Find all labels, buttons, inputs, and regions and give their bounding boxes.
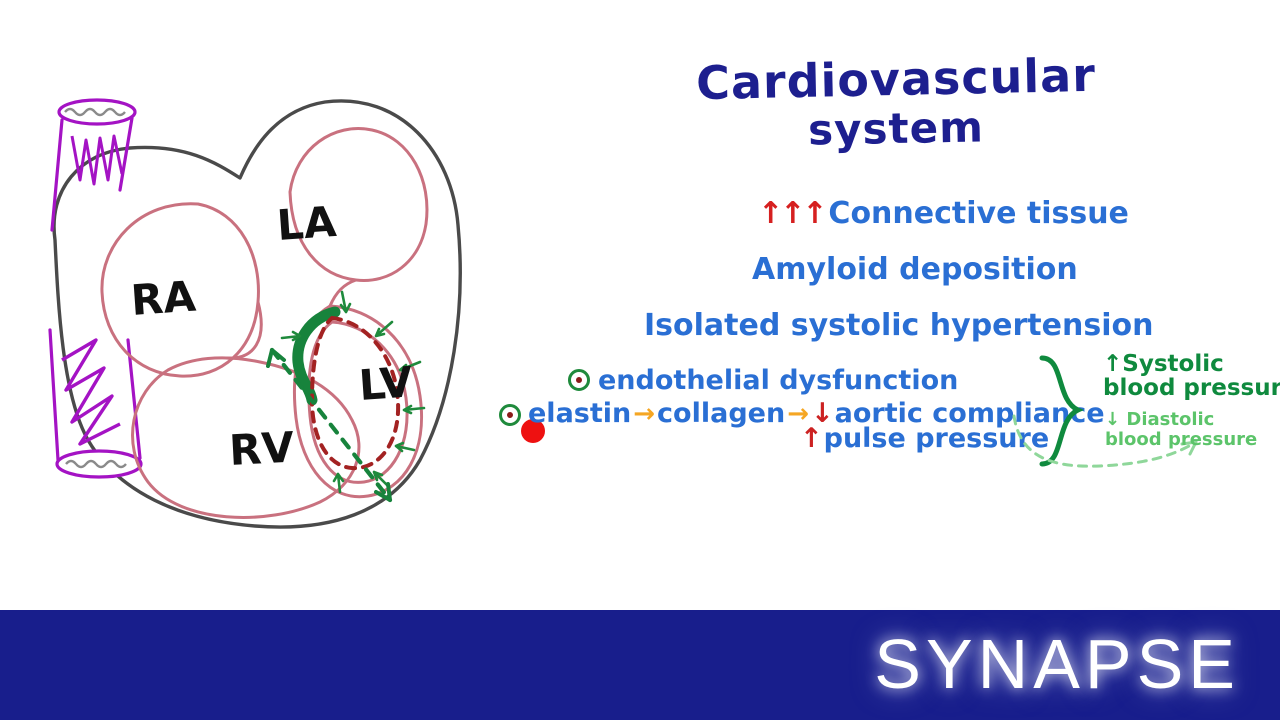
chamber-label-la: LA: [275, 197, 338, 250]
chamber-label-ra: RA: [129, 272, 198, 325]
diastolic-down-arrow-icon: ↓: [1105, 409, 1120, 430]
chamber-label-lv: LV: [357, 357, 414, 410]
bullet-amyloid-deposition-label: Amyloid deposition: [752, 252, 1078, 287]
flow-elastin-label: elastin: [528, 398, 631, 429]
systolic-up-arrow-icon: ↑: [1103, 351, 1122, 377]
bullet-amyloid-deposition: Amyloid deposition: [752, 252, 1078, 287]
chamber-label-rv: RV: [228, 423, 296, 475]
bullet-connective-tissue: ↑↑↑Connective tissue: [758, 196, 1129, 231]
diastolic-label-line1: Diastolic: [1126, 409, 1214, 430]
heart-diagram: RA LA RV LV: [0, 40, 520, 540]
slide-canvas: RA LA RV LV Cardiovascular system ↑↑↑Con…: [0, 0, 1280, 720]
up-arrows-icon: ↑↑↑: [758, 196, 824, 231]
systolic-label-line1: Systolic: [1122, 351, 1223, 377]
bullet-connective-tissue-label: Connective tissue: [828, 196, 1128, 231]
arrow-right-icon-1: →: [631, 399, 657, 429]
page-title-line2: system: [676, 100, 1117, 157]
flow-endothelial-dysfunction: endothelial dysfunction: [598, 365, 958, 396]
systolic-label-line2: blood pressure: [1103, 376, 1280, 400]
arrow-up-icon: ↑: [800, 423, 824, 454]
diastolic-label-line2: blood pressure: [1105, 430, 1257, 450]
bullet-isolated-systolic-hypertension-label: Isolated systolic hypertension: [644, 308, 1153, 343]
brand-name: SYNAPSE: [874, 624, 1240, 704]
outcome-diastolic: ↓ Diastolic blood pressure: [1105, 410, 1257, 450]
flow-collagen-label: collagen: [657, 398, 785, 429]
bullet-isolated-systolic-hypertension: Isolated systolic hypertension: [644, 308, 1153, 343]
outcome-systolic: ↑Systolic blood pressure: [1103, 352, 1280, 400]
green-circle-bullet-icon: [568, 369, 590, 391]
green-circle-bullet-icon-2: [499, 404, 521, 426]
